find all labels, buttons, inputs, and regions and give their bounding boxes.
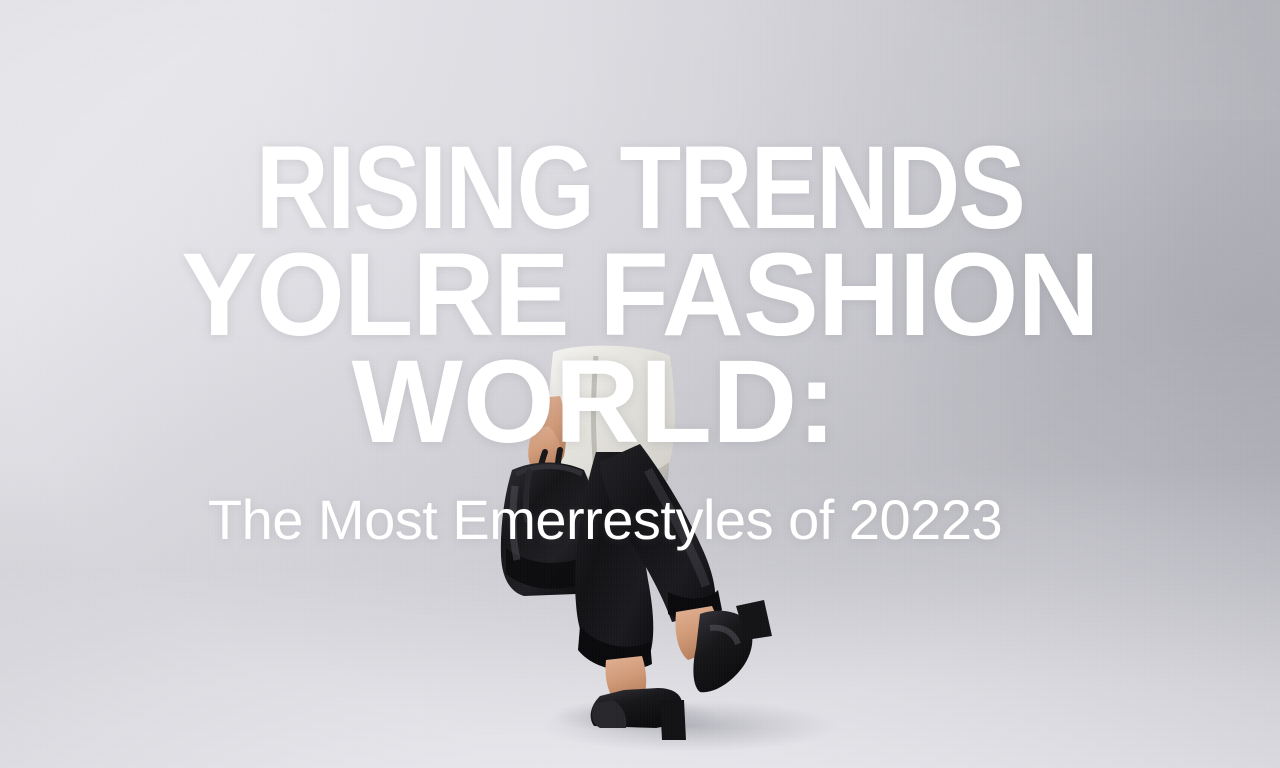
poster-subtitle: The Most Emerrestyles of 20223 bbox=[0, 492, 1280, 548]
fashion-poster: RISING TRENDS YOLRE FASHION WORLD: The M… bbox=[0, 0, 1280, 768]
headline-line-3: WORLD: bbox=[0, 343, 1280, 461]
